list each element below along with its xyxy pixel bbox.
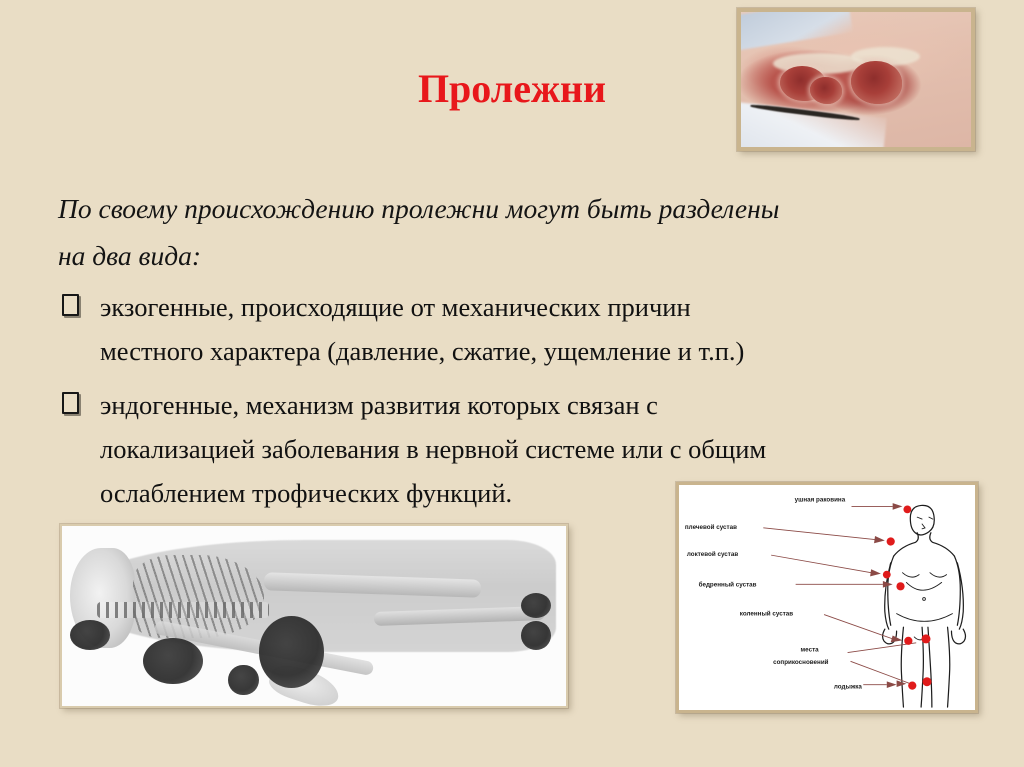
pressure-point <box>521 621 551 650</box>
box-bullet-icon <box>62 294 79 316</box>
lead-line-1: По своему происхождению пролежни могут б… <box>58 185 968 232</box>
lead-line-2: на два вида: <box>58 232 968 279</box>
list-item: экзогенные, происходящие от механических… <box>56 285 986 373</box>
lead-paragraph: По своему происхождению пролежни могут б… <box>58 185 968 279</box>
box-bullet-icon <box>62 392 79 414</box>
label-contact-2: соприкосновений <box>773 659 829 666</box>
slide-canvas: Пролежни По своему происхождению пролежн… <box>0 0 1024 767</box>
spine <box>97 602 268 618</box>
bullet-2-line-1: эндогенные, механизм развития которых св… <box>100 383 986 427</box>
pressure-point <box>143 638 203 685</box>
label-elbow-joint: локтевой сустав <box>687 551 738 558</box>
bullet-1-line-2: местного характера (давление, сжатие, ущ… <box>100 329 986 373</box>
ulcer-lesion <box>851 61 902 104</box>
label-hip-joint: бедренный сустав <box>699 581 757 588</box>
xray-field <box>62 526 566 706</box>
pressure-ulcer-photo <box>737 8 975 151</box>
diagram-labels: ушная раковина плечевой сустав локтевой … <box>685 497 863 691</box>
pressure-point <box>259 616 325 688</box>
bullet-2-line-2: локализацией заболевания в нервной систе… <box>100 427 986 471</box>
label-contact-1: места <box>801 647 820 654</box>
ribcage <box>133 555 264 638</box>
human-figure-outline <box>883 505 966 707</box>
ulcer-lesion <box>810 77 842 104</box>
pressure-point <box>521 593 551 618</box>
bullet-1-line-1: экзогенные, происходящие от механических… <box>100 285 986 329</box>
label-ankle: лодыжка <box>834 684 863 691</box>
label-shoulder-joint: плечевой сустав <box>685 524 737 531</box>
label-knee-joint: коленный сустав <box>740 611 794 618</box>
diagram-svg: ушная раковина плечевой сустав локтевой … <box>679 485 975 710</box>
pressure-point <box>228 665 258 696</box>
pressure-points-diagram: ушная раковина плечевой сустав локтевой … <box>676 482 978 713</box>
label-ear: ушная раковина <box>795 497 846 504</box>
supine-skeleton-xray <box>60 524 568 708</box>
pressure-point <box>70 620 110 651</box>
